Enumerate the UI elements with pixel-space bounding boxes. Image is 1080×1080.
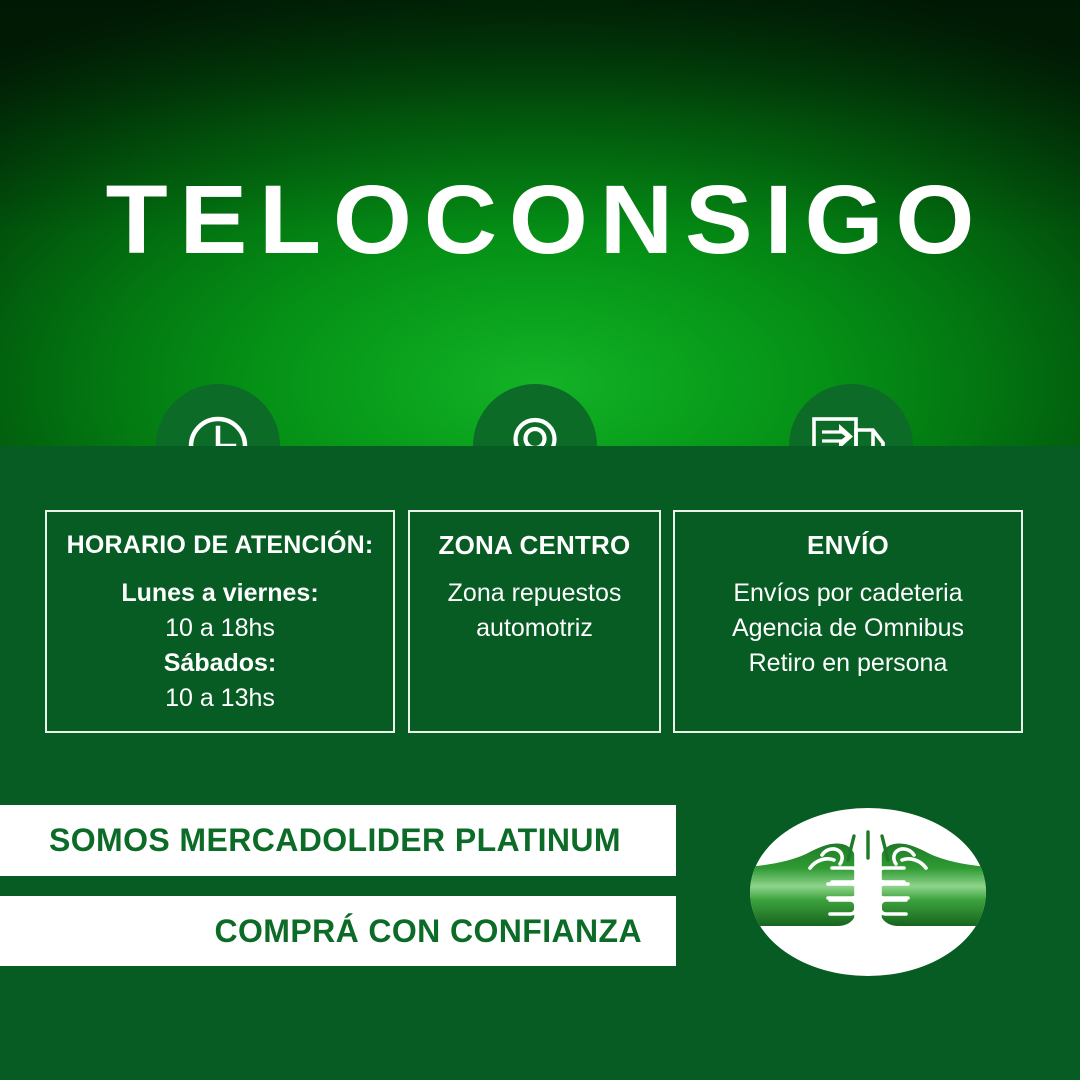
brand-logo-text: TELOCONSIGO	[94, 169, 986, 272]
banner-label: COMPRÁ CON CONFIANZA	[214, 913, 642, 950]
info-card-line: Envíos por cadeteria	[689, 576, 1007, 611]
info-card-line: Lunes a viernes:	[61, 576, 379, 611]
info-card-horario: HORARIO DE ATENCIÓN: Lunes a viernes: 10…	[45, 510, 395, 733]
info-card-line: Agencia de Omnibus	[689, 611, 1007, 646]
info-card-heading: ENVÍO	[689, 530, 1007, 560]
fist-bump-badge	[748, 806, 988, 978]
info-card-line: 10 a 18hs	[61, 611, 379, 646]
banner-label: SOMOS MERCADOLIDER PLATINUM	[49, 822, 621, 859]
info-card-zona: ZONA CENTRO Zona repuestos automotriz	[408, 510, 661, 733]
banner-mercadolider: SOMOS MERCADOLIDER PLATINUM	[0, 805, 676, 876]
info-card-heading: ZONA CENTRO	[424, 530, 645, 560]
info-card-line: 10 a 13hs	[61, 681, 379, 716]
info-card-envio: ENVÍO Envíos por cadeteria Agencia de Om…	[673, 510, 1023, 733]
info-card-line: automotriz	[424, 611, 645, 646]
banner-compra-confianza: COMPRÁ CON CONFIANZA	[0, 896, 676, 966]
info-card-line: Zona repuestos	[424, 576, 645, 611]
brand-logo: TELOCONSIGO	[0, 170, 1080, 270]
info-card-line: Sábados:	[61, 646, 379, 681]
promo-banner-canvas: TELOCONSIGO	[0, 0, 1080, 1080]
info-card-line: Retiro en persona	[689, 646, 1007, 681]
info-card-heading: HORARIO DE ATENCIÓN:	[61, 530, 379, 560]
badge-notch-mask	[0, 446, 1080, 510]
